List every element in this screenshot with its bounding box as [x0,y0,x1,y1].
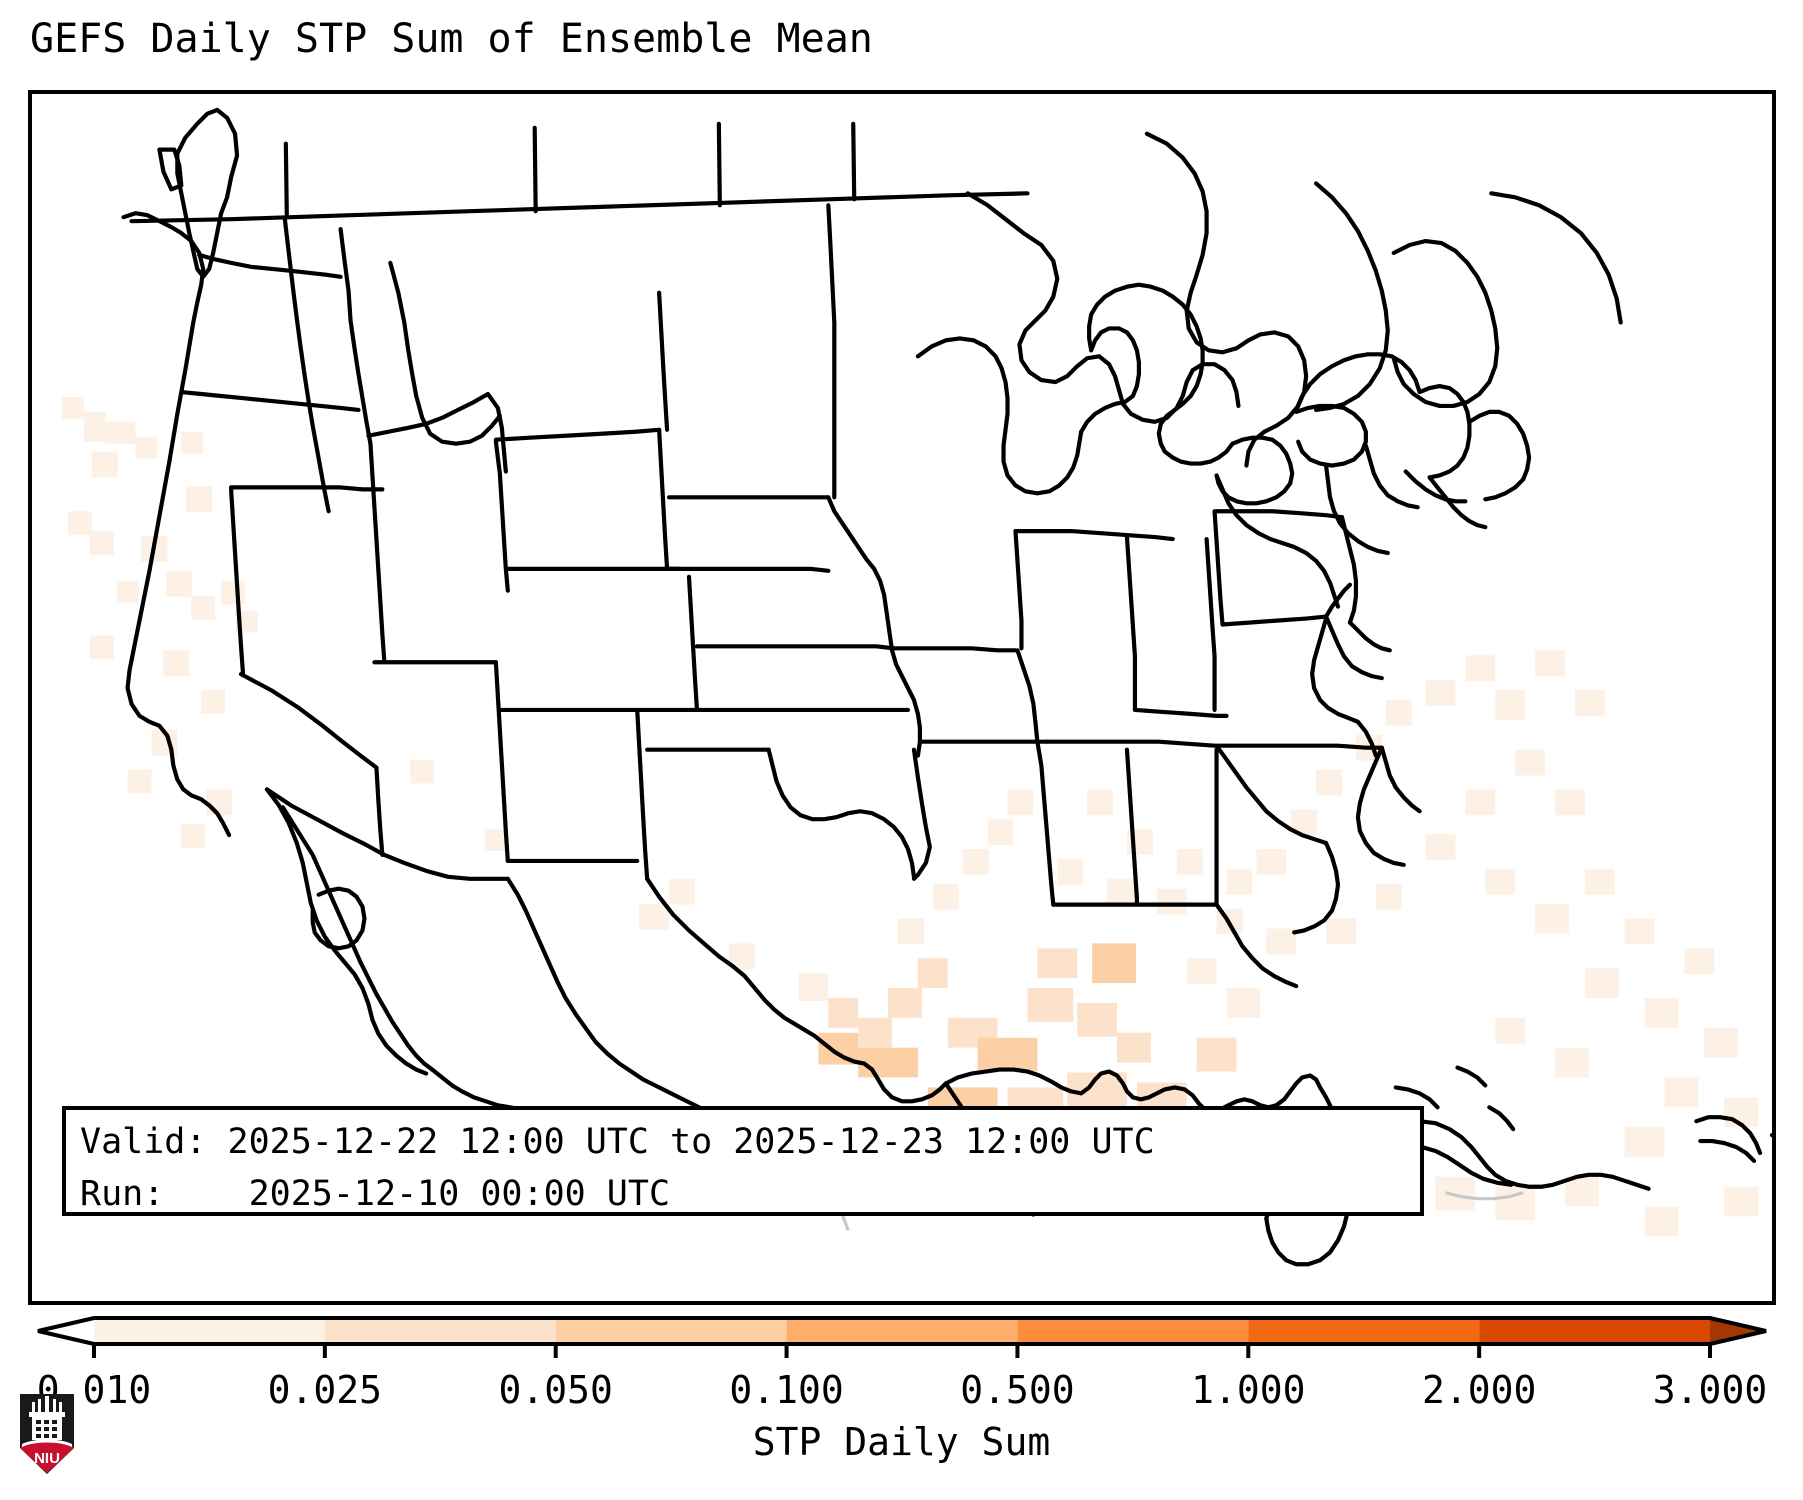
lake-ontario [1296,406,1366,466]
data-grid-cell [221,581,245,605]
data-grid-cell [1107,879,1137,905]
data-grid-cell [988,819,1014,845]
colorbar-tick-label: 0.100 [729,1368,843,1412]
data-grid-cell [1585,968,1619,998]
page-title: GEFS Daily STP Sum of Ensemble Mean [30,16,873,62]
data-grid-cell [639,904,669,930]
colorbar [28,1310,1776,1360]
ca-nv-diagonal [241,674,376,767]
data-grid-cell [1645,998,1679,1028]
data-grid-cell [136,437,158,459]
data-grid-cell [1326,919,1356,945]
maine-outline [1420,386,1470,477]
data-grid-cell [1157,889,1187,915]
ia-mo-border [894,648,1015,650]
data-grid-cell [1495,1018,1525,1044]
hispaniola-south [1700,1141,1754,1161]
or-id-border-2 [285,219,329,511]
sask-manitoba-border [719,124,720,205]
valid-run-info-box: Valid: 2025-12-22 12:00 UTC to 2025-12-2… [62,1106,1424,1216]
nv-ut-border [370,444,384,663]
data-grid-cell [128,770,152,794]
nc-coast [1358,748,1404,865]
colorbar-band [1479,1318,1710,1344]
data-grid-cell [1092,943,1136,983]
data-grid-cell [1087,789,1113,815]
data-grid-cell [1495,690,1525,720]
valid-time-line: Valid: 2025-12-22 12:00 UTC to 2025-12-2… [80,1116,1406,1168]
data-grid-cell [888,988,922,1018]
data-grid-cell [1535,650,1565,676]
colorbar-tick-label: 0.500 [960,1368,1074,1412]
data-grid-cell [90,531,114,555]
data-grid-cell [206,789,232,815]
castle-tower-icon [29,1396,65,1440]
colorbar-tick-label: 0.050 [499,1368,613,1412]
us-canada-border [132,193,1028,221]
colorbar-band [325,1318,556,1344]
data-grid-cell [858,1048,918,1078]
data-grid-cell [485,829,507,851]
mt-nd-border [659,293,667,430]
nc-outer-banks [1382,748,1420,812]
colorbar-tick-label: 3.000 [1653,1368,1767,1412]
data-grid-cell [1664,1077,1698,1107]
data-grid-cell [1495,1187,1535,1221]
colorbar-svg [28,1310,1776,1360]
castle-windows [36,1420,57,1438]
ca-az-border [376,768,382,855]
colorbar-band [1017,1318,1248,1344]
colorbar-band [556,1318,787,1344]
data-grid-cell [62,397,84,419]
labrador-coast [1491,193,1620,322]
data-grid-cell [1535,904,1569,934]
data-grid-cell [1465,789,1495,815]
data-grid-cell [963,849,989,875]
md-pa-corner [1326,585,1350,617]
mt-wy-border [496,430,659,440]
mo-river-border [828,497,920,755]
data-grid-cell [1684,948,1714,974]
data-grid-cell [68,511,92,535]
data-grid-cell [1316,770,1342,796]
data-grid-cell [90,635,114,659]
red-river-ok-tx [769,750,914,877]
nj-coast [1350,622,1390,650]
wy-sd-border [659,430,667,569]
colorbar-tick-label: 0.025 [268,1368,382,1412]
data-grid-cell [1386,700,1412,726]
data-grid-cell [1645,1207,1679,1237]
manitoba-ontario-border [853,124,854,199]
tn-nc-va-border [1227,746,1382,748]
nv-or-id-border [231,487,382,489]
data-grid-cell [1057,859,1083,885]
ne-ks-border [697,646,894,648]
data-grid-cell [92,452,118,478]
alberta-sask-border [535,128,536,211]
data-grid-cell [1555,1048,1589,1078]
lake-huron [1089,285,1232,464]
data-grid-cell [1625,1127,1665,1157]
data-grid-cell [858,1018,892,1048]
gulf-of-california-island [313,889,365,949]
il-mo-mississippi [1017,650,1037,741]
colorbar-band [94,1318,325,1344]
data-grid-cell [1027,988,1073,1022]
data-grid-cell [933,884,959,910]
data-grid-cell [1426,680,1456,706]
co-ne-ks-border [689,577,697,710]
data-grid-cell [181,432,203,454]
colorbar-tick-labels: 0.0100.0250.0500.1000.5001.0002.0003.000 [0,1368,1803,1414]
data-grid-cell [166,571,192,597]
run-time-line: Run: 2025-12-10 00:00 UTC [80,1168,1406,1220]
in-oh-border [1207,539,1215,710]
data-grid-cell [1704,1028,1738,1058]
gulf-coast-la-ms-al [946,1070,1320,1112]
ms-river-ar-ms [1037,742,1053,905]
data-grid-cell [1197,1038,1237,1072]
wa-or-border [199,255,340,277]
data-grid-cell [1227,988,1261,1018]
sd-ne-border [667,569,828,571]
nova-scotia [1469,412,1529,499]
data-grid-cell [828,998,858,1028]
pa-oh-border [1215,511,1223,624]
data-grid-cell [1426,834,1456,860]
vancouver-island-2 [177,110,237,277]
ar-ok-border [914,750,930,879]
data-grid-cell [1465,655,1495,681]
bahamas-eleuthera [1489,1107,1513,1129]
data-grid-cell [1177,849,1203,875]
data-grid-cell [898,919,924,945]
data-grid-cell [163,650,189,676]
data-grid-cell [1266,928,1296,954]
colorbar-bands [38,1318,1766,1344]
colorbar-tick-label: 1.000 [1191,1368,1305,1412]
niu-shield-logo: NIU [16,1390,78,1478]
data-grid-cell [1485,869,1515,895]
ia-il-border [1015,531,1021,648]
data-grid-cell [186,486,212,512]
data-grid-cell [410,760,434,784]
wi-il-border [1015,531,1172,539]
data-grid-cell [798,973,828,1001]
data-grid-cell [1037,948,1077,978]
data-grid-cell [978,1038,1038,1072]
data-grid-cell [1077,1003,1117,1037]
bahamas-andros [1396,1087,1438,1107]
nm-tx-border [637,710,647,879]
bc-alberta-border [286,144,287,218]
tn-ky-border [1047,742,1226,746]
data-grid-cell [1227,869,1253,895]
data-grid-cell [669,879,695,905]
lake-michigan-west [918,338,1081,493]
data-grid-cell [1256,849,1286,875]
data-grid-cell [106,422,136,444]
data-grid-cell [918,958,948,988]
pa-wv-md-border [1223,617,1327,625]
colorbar-band [1248,1318,1479,1344]
data-grid-cell [201,690,225,714]
data-grid-cell [1555,789,1585,815]
colorbar-band [787,1318,1018,1344]
or-ca-nv-border [181,392,358,410]
data-grid-cell [1008,789,1034,815]
cuba-north-coast [1388,1121,1649,1189]
bahamas-grand [1457,1068,1485,1086]
nfld-island [1394,241,1498,406]
data-grid-cell [1515,750,1545,776]
quebec-coast [1316,183,1388,409]
data-grid-cell [117,581,139,603]
colorbar-tick-label: 2.000 [1422,1368,1536,1412]
data-grid-cell [1724,1187,1758,1217]
data-grid-cell [181,824,205,848]
mt-nd-mn-col [828,205,834,497]
data-grid-cell [84,412,106,442]
mexico-mainland-south [432,1070,522,1110]
data-grid-cell [191,596,215,620]
data-grid-cell [1117,1033,1151,1063]
data-grid-cell [1376,884,1402,910]
niu-logo-text: NIU [34,1450,60,1467]
data-grid-cell [1585,869,1615,895]
data-grid-cell [1625,919,1655,945]
data-grid-cell [1187,958,1217,984]
colorbar-axis-label: STP Daily Sum [0,1420,1803,1464]
data-grid-cell [1575,690,1605,716]
il-in-border [1127,537,1135,710]
